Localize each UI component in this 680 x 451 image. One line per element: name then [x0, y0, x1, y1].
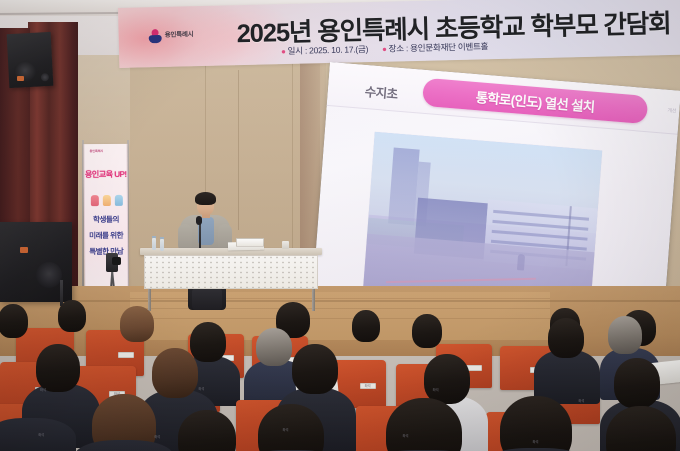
audience-head [120, 306, 154, 342]
audience-head [256, 328, 292, 366]
microphone-icon [196, 216, 202, 225]
camera-lens-icon [112, 257, 121, 265]
banner-date: ●일시 : 2025. 10. 17.(금) [281, 43, 368, 57]
seat-number-plate: 좌석 [527, 439, 543, 445]
seat-number-plate: 좌석 [109, 391, 125, 397]
audience-head [614, 358, 660, 408]
audience-head [412, 314, 442, 348]
audience-head [548, 318, 584, 358]
table-perforation-pattern [145, 256, 317, 288]
seat-number-plate: 좌석 [360, 383, 376, 389]
slide-pill-text: 통학로(인도) 열선 설치 [475, 86, 595, 116]
audience-head [424, 354, 470, 404]
seat-number-plate: 좌석 [149, 434, 165, 440]
audience-head [0, 304, 28, 338]
audience-head [190, 322, 226, 362]
city-emblem-icon [149, 29, 162, 44]
slide-school-label: 수지초 [364, 81, 398, 103]
speaker-hair [195, 192, 216, 205]
audience-head [58, 300, 86, 332]
graduation-cap-icon [103, 195, 111, 206]
microphone-stand [199, 222, 201, 250]
water-bottle [160, 239, 164, 251]
city-logo: 용인특례시 [149, 28, 194, 44]
book-icon [115, 195, 123, 206]
seat-number-plate: 좌석 [35, 387, 51, 393]
wall-panel-line [238, 70, 239, 230]
seat-number-plate: 좌석 [277, 427, 293, 433]
tweeter-icon [41, 73, 49, 81]
standing-banner-line-2: 미래를 위한 [85, 230, 127, 241]
photo-pedestrian [517, 254, 525, 271]
city-logo-text: 용인특례시 [165, 32, 194, 39]
standing-banner-logo: 용인특례시 [89, 149, 103, 153]
speaker-brand-badge [20, 247, 28, 253]
seat-number-plate: 좌석 [428, 387, 444, 393]
audience-area: 좌석 좌석 좌석 좌석 좌석 좌석 좌석 좌석 좌석 좌석 좌석 [0, 300, 680, 451]
audience-head [36, 344, 80, 392]
speaker-brand-badge [17, 76, 24, 81]
water-bottle [152, 238, 156, 250]
bullet-icon: ● [382, 45, 387, 54]
audience-head [152, 348, 198, 398]
seat-number-plate: 좌석 [573, 398, 589, 404]
event-photo-scene: 용인특례시 2025년 용인특례시 초등학교 학부모 간담회 ●일시 : 202… [0, 0, 680, 451]
standing-banner-headline: 용인교육 UP! [85, 168, 127, 180]
audience-head [352, 310, 380, 342]
bottle-cap [160, 237, 164, 239]
slide-photo [363, 132, 602, 310]
standing-banner: 용인특례시 용인교육 UP! 학생들의 미래를 위한 특별한 만남 용인특례시 [83, 144, 128, 300]
seat-number-plate: 좌석 [193, 386, 209, 392]
speaker-cone [36, 262, 62, 288]
audience-head [178, 410, 236, 451]
banner-place: ●장소 : 용인문화재단 이벤트홀 [382, 40, 488, 54]
standing-banner-icons [89, 188, 125, 206]
paper-cup [282, 241, 289, 249]
seat-number-plate: 좌석 [397, 433, 413, 439]
seat-number-plate: 좌석 [33, 432, 49, 438]
award-icon [91, 195, 99, 206]
speaker-table-front-panel [144, 255, 318, 289]
standing-banner-line-1: 학생들의 [85, 214, 127, 225]
audience-head [292, 344, 338, 394]
slide-corner-note: 개선 [667, 107, 676, 115]
bullet-icon: ● [281, 47, 286, 56]
name-card [236, 238, 264, 247]
audience-head [608, 316, 642, 354]
bottle-cap [152, 236, 156, 238]
